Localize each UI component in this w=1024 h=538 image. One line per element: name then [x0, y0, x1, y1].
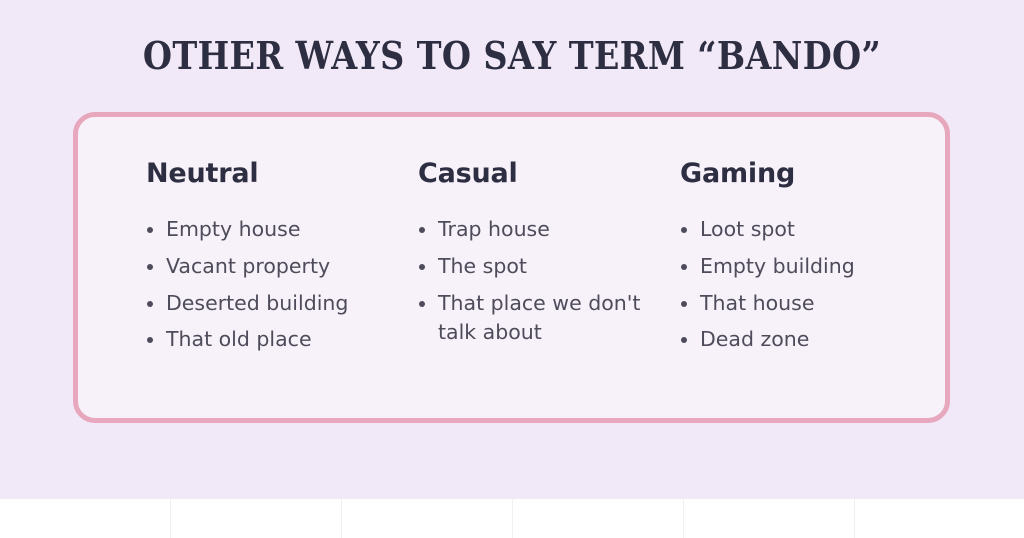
list-item: Vacant property: [143, 252, 415, 282]
page-title: OTHER WAYS TO SAY TERM “BANDO”: [61, 33, 962, 78]
column-heading: Neutral: [146, 159, 415, 189]
screenshot-canvas: OTHER WAYS TO SAY TERM “BANDO” Neutral E…: [0, 0, 1024, 538]
list-item: Empty house: [143, 215, 415, 245]
column-heading: Casual: [418, 159, 677, 189]
term-list: Loot spot Empty building That house Dead…: [677, 215, 937, 356]
term-column-gaming: Gaming Loot spot Empty building That hou…: [677, 159, 937, 418]
terms-columns: Neutral Empty house Vacant property Dese…: [78, 117, 945, 418]
list-item: Dead zone: [677, 325, 937, 355]
list-item: Deserted building: [143, 289, 415, 319]
list-item: Loot spot: [677, 215, 937, 245]
term-column-neutral: Neutral Empty house Vacant property Dese…: [143, 159, 415, 418]
term-column-casual: Casual Trap house The spot That place we…: [415, 159, 677, 418]
list-item: Trap house: [415, 215, 653, 245]
list-item: That place we don't talk about: [415, 289, 653, 349]
column-heading: Gaming: [680, 159, 937, 189]
term-list: Empty house Vacant property Deserted bui…: [143, 215, 415, 356]
list-item: The spot: [415, 252, 653, 282]
graphic-panel: OTHER WAYS TO SAY TERM “BANDO” Neutral E…: [0, 0, 1024, 499]
list-item: That old place: [143, 325, 415, 355]
terms-card: Neutral Empty house Vacant property Dese…: [73, 112, 950, 423]
term-list: Trap house The spot That place we don't …: [415, 215, 677, 349]
list-item: Empty building: [677, 252, 937, 282]
list-item: That house: [677, 289, 937, 319]
